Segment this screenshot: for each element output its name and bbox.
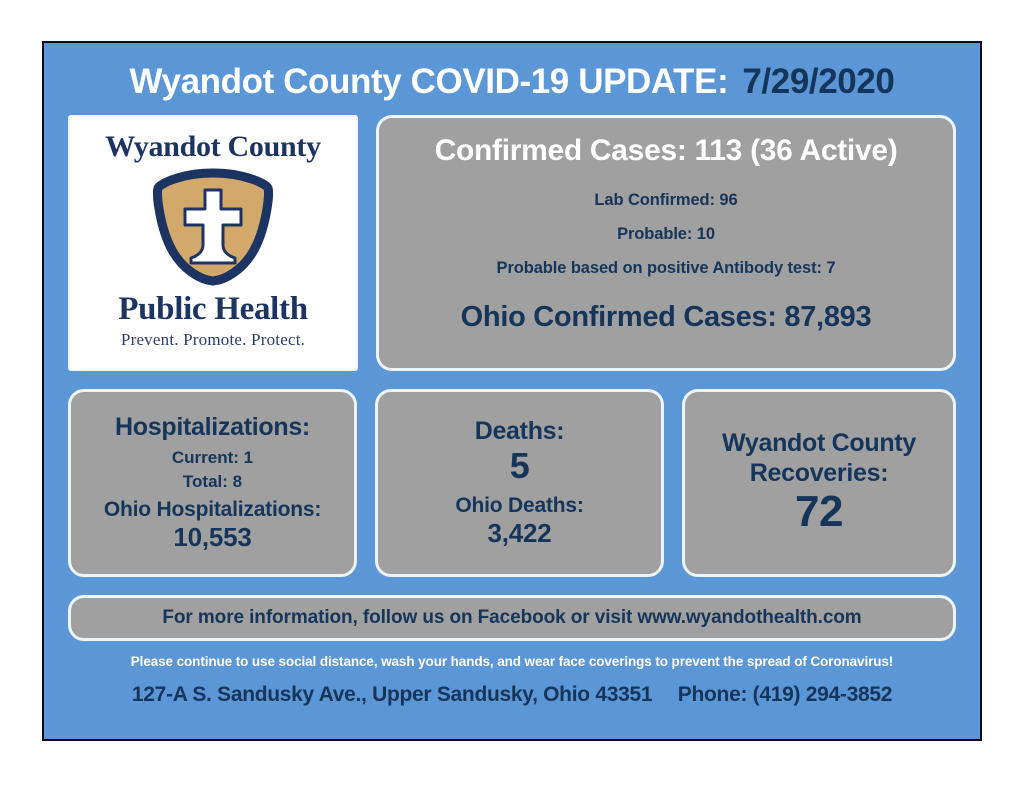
more-information-bar[interactable]: For more information, follow us on Faceb…	[68, 595, 956, 641]
deaths-value: 5	[386, 446, 653, 486]
probable-line: Probable: 10	[389, 218, 943, 252]
logo-line-top: Wyandot County	[105, 132, 321, 162]
main-panel: Wyandot County COVID-19 UPDATE: 7/29/202…	[42, 41, 982, 741]
ohio-deaths-label: Ohio Deaths:	[386, 494, 653, 518]
confirmed-cases-breakdown: Lab Confirmed: 96 Probable: 10 Probable …	[389, 184, 943, 285]
contact-line: 127-A S. Sandusky Ave., Upper Sandusky, …	[68, 683, 956, 707]
footer: Please continue to use social distance, …	[68, 641, 956, 707]
zip-code: 43351	[595, 683, 652, 706]
phone-number: Phone: (419) 294-3852	[678, 683, 892, 706]
hospitalizations-total: Total: 8	[79, 470, 346, 494]
ohio-confirmed-cases: Ohio Confirmed Cases: 87,893	[389, 301, 943, 334]
deaths-title: Deaths:	[386, 417, 653, 447]
confirmed-cases-card: Confirmed Cases: 113 (36 Active) Lab Con…	[376, 115, 956, 371]
confirmed-cases-headline: Confirmed Cases: 113 (36 Active)	[389, 134, 943, 168]
stat-row: Hospitalizations: Current: 1 Total: 8 Oh…	[68, 389, 956, 577]
recoveries-title-line2: Recoveries:	[693, 459, 945, 489]
more-information-text: For more information, follow us on Faceb…	[162, 607, 861, 629]
recoveries-card: Wyandot County Recoveries: 72	[682, 389, 956, 577]
hospitalizations-current: Current: 1	[79, 446, 346, 470]
top-row: Wyandot County Public Health Prevent. Pr…	[68, 115, 956, 371]
header-bar: Wyandot County COVID-19 UPDATE: 7/29/202…	[68, 43, 956, 115]
probable-antibody-line: Probable based on positive Antibody test…	[389, 252, 943, 286]
ohio-hospitalizations-value: 10,553	[79, 522, 346, 553]
hospitalizations-card: Hospitalizations: Current: 1 Total: 8 Oh…	[68, 389, 357, 577]
logo-tagline: Prevent. Promote. Protect.	[121, 330, 305, 350]
recoveries-value: 72	[693, 488, 945, 536]
ohio-deaths-value: 3,422	[386, 518, 653, 549]
shield-cross-icon	[153, 168, 273, 291]
address-text: 127-A S. Sandusky Ave., Upper Sandusky, …	[132, 683, 590, 706]
hospitalizations-title: Hospitalizations:	[79, 413, 346, 443]
ohio-hospitalizations-label: Ohio Hospitalizations:	[79, 498, 346, 522]
deaths-card: Deaths: 5 Ohio Deaths: 3,422	[375, 389, 664, 577]
report-date: 7/29/2020	[742, 62, 894, 102]
recoveries-title-line1: Wyandot County	[693, 429, 945, 459]
logo-line-mid: Public Health	[118, 293, 308, 326]
infographic-page: Wyandot County COVID-19 UPDATE: 7/29/202…	[0, 0, 1024, 791]
advisory-text: Please continue to use social distance, …	[68, 654, 956, 669]
agency-logo-card: Wyandot County Public Health Prevent. Pr…	[68, 115, 358, 371]
page-title: Wyandot County COVID-19 UPDATE:	[130, 62, 729, 102]
lab-confirmed-line: Lab Confirmed: 96	[389, 184, 943, 218]
